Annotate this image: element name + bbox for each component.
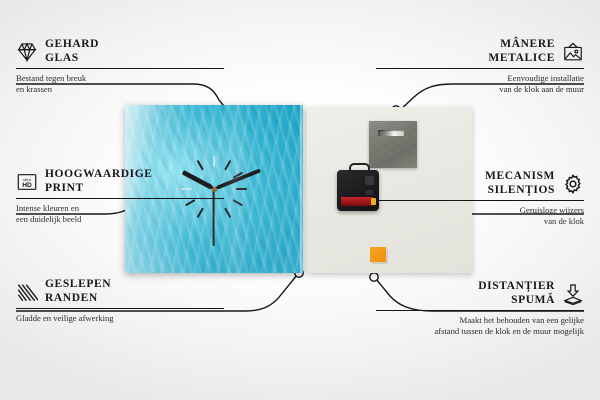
feature-title-2: GLAS [45, 52, 99, 66]
feature-title: HOOGWAARDIGE [45, 168, 153, 182]
feature-rule [376, 200, 584, 201]
feature-title: GESLEPEN [45, 278, 111, 292]
feature-gehard-glas: GEHARD GLAS Bestand tegen breuk en krass… [16, 38, 224, 95]
feature-title-2: METALICE [488, 52, 555, 66]
glass-edge [300, 105, 303, 273]
feature-desc-2: en krassen [16, 84, 224, 95]
feature-mecanism-silentios: MECANISM SILENȚIOS Geruisloze wijzers va… [376, 170, 584, 227]
picture-frame-icon [562, 41, 584, 63]
battery [341, 197, 373, 206]
feature-title-2: SILENȚIOS [485, 184, 555, 198]
mechanism-knob [365, 176, 374, 185]
feature-manere-metalice: MÂNERE METALICE Eenvoudige installatie v… [376, 38, 584, 95]
feature-desc: Intense kleuren en [16, 203, 224, 214]
feature-rule [376, 310, 584, 311]
feature-desc: Bestand tegen breuk [16, 73, 224, 84]
feature-desc: Maakt het behouden van een gelijke [376, 315, 584, 326]
feature-title-2: PRINT [45, 182, 153, 196]
feature-desc: Eenvoudige installatie [376, 73, 584, 84]
feature-title: MECANISM [485, 170, 555, 184]
feature-desc-2: van de klok aan de muur [376, 84, 584, 95]
feature-rule [16, 68, 224, 69]
diamond-icon [16, 41, 38, 63]
infographic-canvas: GEHARD GLAS Bestand tegen breuk en krass… [0, 0, 600, 400]
feature-title-2: SPUMĂ [478, 294, 555, 308]
feature-rule [16, 198, 224, 199]
feature-title: DISTANȚIER [478, 280, 555, 294]
gear-icon [562, 173, 584, 195]
feature-rule [376, 68, 584, 69]
feature-hoogwaardige-print: ultra HD HOOGWAARDIGE PRINT Intense kleu… [16, 168, 224, 225]
metal-hanger-plate [369, 121, 417, 168]
feature-rule [16, 308, 224, 309]
feature-desc-2: een duidelijk beeld [16, 214, 224, 225]
mechanism-switch [366, 190, 373, 195]
foam-spacer [370, 247, 386, 262]
hanger-slot [378, 130, 404, 136]
feature-desc: Gladde en veilige afwerking [16, 313, 224, 324]
mechanism-hanging-loop [349, 163, 370, 174]
spacer-press-icon [562, 283, 584, 305]
feature-geslepen-randen: GESLEPEN RANDEN Gladde en veilige afwerk… [16, 278, 224, 324]
ultra-hd-icon: ultra HD [16, 171, 38, 193]
feature-distantier-spuma: DISTANȚIER SPUMĂ Maakt het behouden van … [376, 280, 584, 337]
svg-text:HD: HD [22, 182, 32, 189]
feature-desc-2: van de klok [376, 216, 584, 227]
feature-desc: Geruisloze wijzers [376, 205, 584, 216]
beveled-edges-icon [16, 281, 38, 303]
feature-title-2: RANDEN [45, 292, 111, 306]
feature-desc-2: afstand tussen de klok en de muur mogeli… [376, 326, 584, 337]
clock-mechanism [337, 170, 379, 211]
feature-title: MÂNERE [488, 38, 555, 52]
feature-title: GEHARD [45, 38, 99, 52]
